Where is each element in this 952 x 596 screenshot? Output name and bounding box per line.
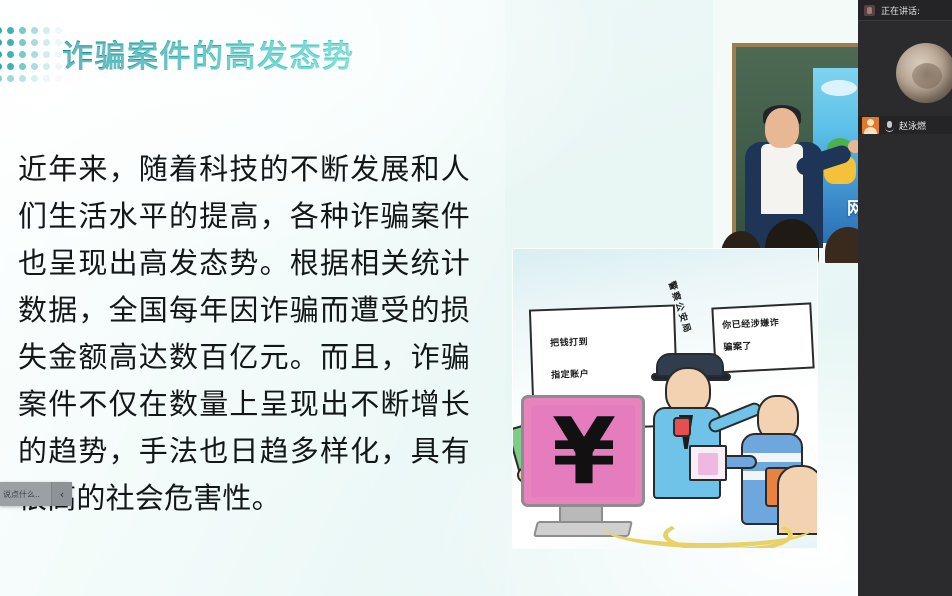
cartoon-money-bundle	[689, 445, 727, 481]
video-participant-tile[interactable]	[858, 21, 952, 116]
chat-input-bar[interactable]: 说点什么.. ‹	[0, 482, 72, 506]
slide-body-text: 近年来，随着科技的不断发展和人们生活水平的提高，各种诈骗案件也呈现出高发态势。根…	[18, 146, 470, 522]
cartoon-microphone	[673, 417, 691, 437]
participant-avatar	[896, 43, 952, 103]
chat-input-field[interactable]: 说点什么..	[0, 482, 51, 506]
cartoon-sign-left-line2: 指定账户	[551, 368, 590, 384]
presentation-screen: 诈骗案件的高发态势 近年来，随着科技的不断发展和人们生活水平的提高，各种诈骗案件…	[0, 0, 952, 596]
speaker-icon	[864, 5, 875, 16]
cartoon-officer-arm	[706, 401, 763, 435]
cartoon-yen-symbol: ¥	[545, 409, 623, 495]
cartoon-sign-right-line2: 骗案了	[723, 340, 752, 356]
participant-thumbnail-avatar	[862, 117, 879, 134]
slide-title: 诈骗案件的高发态势	[62, 38, 355, 77]
cartoon-sign-right-line1: 你已经涉嫌诈	[722, 316, 780, 334]
video-panel-header: 正在讲话:	[858, 0, 952, 21]
cartoon-rope-loop	[663, 517, 793, 549]
participant-name-bar[interactable]: 赵泳燃	[858, 116, 952, 135]
dot-grid-decoration-top-left	[0, 27, 62, 82]
video-panel-empty-area	[858, 134, 952, 596]
microphone-icon[interactable]	[883, 120, 895, 132]
screen-cloud-icon	[821, 80, 857, 96]
speaking-status-label: 正在讲话:	[881, 4, 920, 17]
collapse-chevron-icon[interactable]: ‹	[51, 482, 72, 506]
participant-name: 赵泳燃	[899, 119, 926, 132]
anti-fraud-cartoon-illustration: 把钱打到 指定账户 你已经涉嫌诈 骗案了 警察公安局 ¥	[512, 248, 818, 549]
cartoon-sign-left-line1: 把钱打到	[550, 336, 589, 352]
video-call-panel: 正在讲话: 赵泳燃	[858, 0, 952, 596]
cartoon-sign-right: 你已经涉嫌诈 骗案了	[711, 302, 814, 373]
